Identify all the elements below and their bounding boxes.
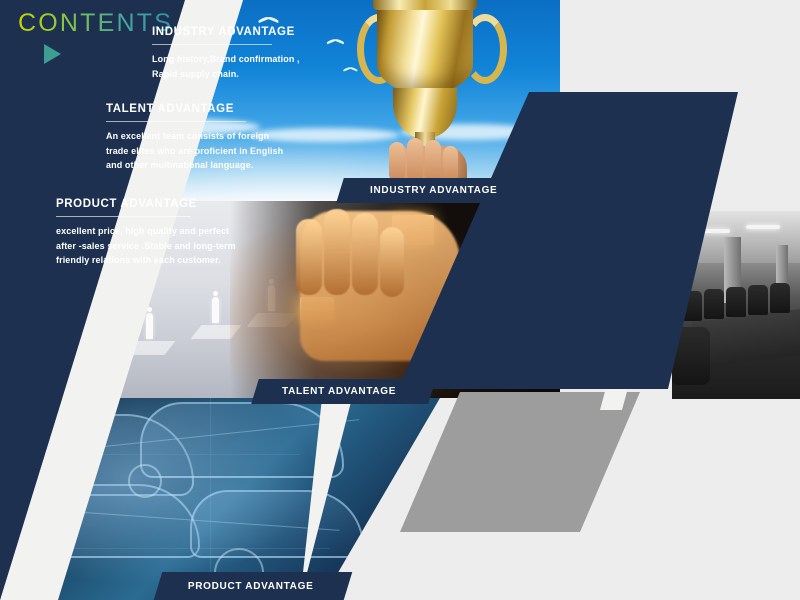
chair bbox=[770, 283, 790, 313]
advantage-body: excellent price, high quality and perfec… bbox=[56, 224, 236, 268]
title-rule bbox=[152, 44, 272, 45]
advantage-title: INDUSTRY ADVANTAGE bbox=[152, 26, 327, 38]
finger bbox=[425, 140, 441, 182]
car-wireframe bbox=[140, 402, 344, 478]
badge-label: PRODUCT ADVANTAGE bbox=[188, 581, 314, 592]
badge-industry-advantage[interactable]: INDUSTRY ADVANTAGE bbox=[336, 178, 530, 203]
badge-talent-advantage[interactable]: TALENT ADVANTAGE bbox=[251, 379, 436, 404]
finger bbox=[296, 219, 322, 295]
finger bbox=[380, 227, 404, 297]
trophy-body bbox=[393, 88, 457, 138]
advantage-body: Long history,Brand confirmation , Rapid … bbox=[152, 52, 327, 81]
finger bbox=[389, 142, 405, 182]
chair bbox=[704, 289, 724, 319]
trophy-rim bbox=[373, 0, 477, 10]
trophy-graphic bbox=[345, 0, 505, 196]
title-rule bbox=[56, 216, 191, 217]
ceiling-light bbox=[746, 225, 780, 229]
advantage-block-industry: INDUSTRY ADVANTAGE Long history,Brand co… bbox=[152, 26, 327, 81]
decorative-parallelogram bbox=[400, 392, 640, 532]
finger bbox=[443, 146, 458, 182]
title-rule bbox=[106, 121, 246, 122]
trophy-cup bbox=[377, 2, 473, 94]
badge-product-advantage[interactable]: PRODUCT ADVANTAGE bbox=[154, 572, 353, 600]
finger bbox=[324, 209, 350, 295]
advantage-block-product: PRODUCT ADVANTAGE excellent price, high … bbox=[56, 198, 236, 268]
badge-label: TALENT ADVANTAGE bbox=[282, 386, 396, 397]
badge-label: INDUSTRY ADVANTAGE bbox=[370, 185, 497, 196]
advantage-body: An excellent team consists of foreign tr… bbox=[106, 129, 286, 173]
page-title: CONTENTS bbox=[18, 9, 173, 38]
advantage-block-talent: TALENT ADVANTAGE An excellent team consi… bbox=[106, 103, 286, 173]
advantage-title: PRODUCT ADVANTAGE bbox=[56, 198, 236, 210]
person-silhouette bbox=[146, 313, 153, 339]
chair bbox=[726, 287, 746, 317]
car-wireframe bbox=[190, 490, 364, 558]
person-silhouette bbox=[212, 297, 219, 323]
finger bbox=[407, 138, 423, 182]
chair bbox=[748, 285, 768, 315]
slide-canvas: CONTENTS INDUSTRY ADVANTAGE Long history… bbox=[0, 0, 800, 600]
play-triangle-icon[interactable] bbox=[44, 44, 61, 64]
advantage-title: TALENT ADVANTAGE bbox=[106, 103, 286, 115]
wheel-wireframe bbox=[128, 464, 162, 498]
finger bbox=[352, 213, 378, 295]
